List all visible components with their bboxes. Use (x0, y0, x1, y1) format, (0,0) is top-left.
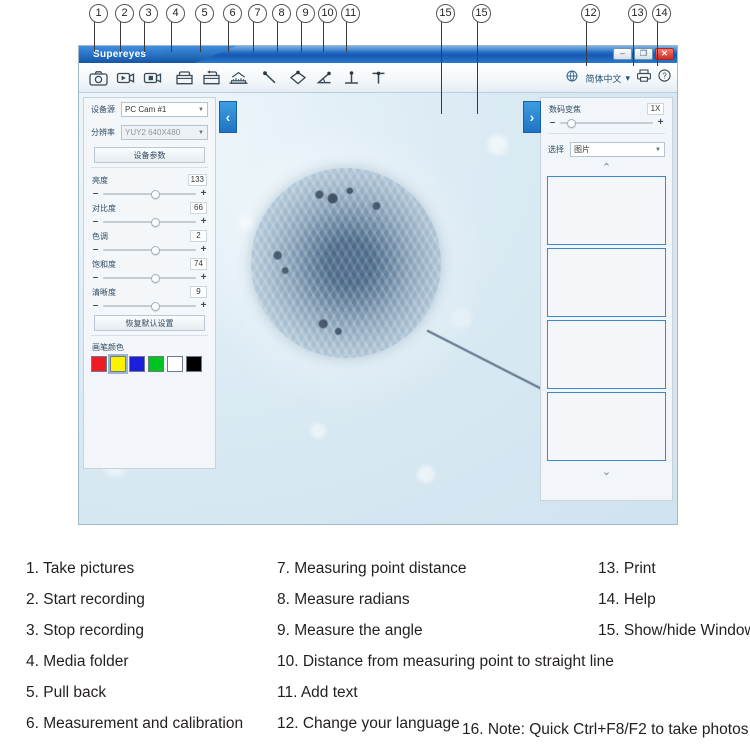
question-icon[interactable]: ? (658, 69, 671, 87)
legend-item: 5. Pull back (26, 677, 243, 708)
brush-color-swatch-5[interactable] (186, 356, 202, 372)
slider-minus-0[interactable]: – (92, 188, 99, 199)
brush-color-swatch-1[interactable] (110, 356, 126, 372)
image-adjust-sliders: 亮度133–+对比度66–+色调2–+饱和度74–+清晰度9–+ (84, 172, 215, 312)
slider-minus-4[interactable]: – (92, 300, 99, 311)
app-title: Supereyes (85, 46, 162, 63)
callout-leader-line (346, 22, 347, 52)
supereyes-app-window: Supereyes – ❐ ✕ (78, 45, 678, 525)
slider-minus-3[interactable]: – (92, 272, 99, 283)
measure-radians-icon[interactable] (284, 66, 311, 90)
callout-leader-line (228, 22, 229, 52)
thumbnail-item[interactable] (547, 176, 666, 245)
legend-item: 15. Show/hide Windows (598, 615, 750, 646)
callout-marker-5-4: 5 (195, 4, 214, 23)
slider-value-1: 66 (190, 202, 207, 214)
slider-value-4: 9 (190, 286, 207, 298)
chevron-down-icon: ▼ (198, 130, 204, 136)
slider-plus-2[interactable]: + (200, 244, 207, 255)
stop-recording-icon[interactable] (139, 66, 166, 90)
resolution-value: YUY2 640X480 (125, 128, 180, 137)
digital-zoom-track[interactable] (560, 118, 653, 128)
legend-item: 11. Add text (277, 677, 614, 708)
device-params-button[interactable]: 设备参数 (94, 147, 205, 163)
main-toolbar: 简体中文 ▾ ? (79, 63, 677, 93)
chevron-down-icon: ▼ (655, 147, 661, 153)
svg-text:?: ? (662, 72, 667, 81)
callout-leader-line (171, 22, 172, 52)
callout-leader-line (441, 22, 442, 114)
callout-leader-line (657, 22, 658, 66)
slider-plus-4[interactable]: + (200, 300, 207, 311)
callout-leader-line (323, 22, 324, 52)
chevron-up-icon[interactable]: ⌃ (541, 161, 672, 176)
callout-marker-11-10: 11 (341, 4, 360, 23)
callout-marker-10-9: 10 (318, 4, 337, 23)
brush-color-swatch-3[interactable] (148, 356, 164, 372)
brush-color-swatch-4[interactable] (167, 356, 183, 372)
slider-block-4: 清晰度9–+ (84, 284, 215, 312)
slider-plus-0[interactable]: + (200, 188, 207, 199)
window-controls: – ❐ ✕ (613, 48, 674, 60)
slider-plus-3[interactable]: + (200, 272, 207, 283)
legend-item: 2. Start recording (26, 584, 243, 615)
digital-zoom-block: 数码变焦 1X – + (541, 98, 672, 129)
slider-label-3: 饱和度 (92, 259, 116, 270)
device-source-row: 设备源 PC Cam #1 ▼ (84, 98, 215, 121)
thumbnail-item[interactable] (547, 248, 666, 317)
language-selector[interactable]: 简体中文 ▾ (585, 72, 630, 85)
legend-note: 16. Note: Quick Ctrl+F8/F2 to take photo… (462, 721, 748, 739)
callout-marker-7-6: 7 (248, 4, 267, 23)
brush-color-label: 画笔颜色 (84, 340, 215, 356)
slider-value-3: 74 (190, 258, 207, 270)
select-type-value: 图片 (574, 144, 590, 155)
slider-block-0: 亮度133–+ (84, 172, 215, 200)
point-to-line-distance-icon[interactable] (338, 66, 365, 90)
slider-knob-0[interactable] (151, 190, 160, 199)
panel-divider (91, 167, 208, 168)
callout-marker-2-1: 2 (115, 4, 134, 23)
minimize-button[interactable]: – (613, 48, 632, 60)
slider-track-2[interactable] (103, 245, 196, 255)
slider-block-2: 色调2–+ (84, 228, 215, 256)
thumbnail-item[interactable] (547, 320, 666, 389)
panel-divider-2 (91, 335, 208, 336)
language-value: 简体中文 (585, 72, 621, 85)
callout-marker-12-13: 12 (581, 4, 600, 23)
select-type-dropdown[interactable]: 图片 ▼ (570, 142, 665, 157)
right-panel-divider (548, 133, 665, 134)
slider-track-4[interactable] (103, 301, 196, 311)
slider-knob-3[interactable] (151, 274, 160, 283)
callout-leader-line (144, 22, 145, 52)
callout-leader-line (301, 22, 302, 52)
device-source-select[interactable]: PC Cam #1 ▼ (121, 102, 208, 117)
slider-track-3[interactable] (103, 273, 196, 283)
device-source-value: PC Cam #1 (125, 105, 166, 114)
callout-marker-15-11: 15 (436, 4, 455, 23)
callout-marker-13-14: 13 (628, 4, 647, 23)
legend-block: 1. Take pictures2. Start recording3. Sto… (0, 545, 750, 750)
legend-column-3: 13. Print14. Help15. Show/hide Windows (598, 553, 750, 646)
media-folder-icon[interactable] (171, 66, 198, 90)
callout-marker-15-12: 15 (472, 4, 491, 23)
maximize-button[interactable]: ❐ (634, 48, 653, 60)
resolution-label: 分辨率 (91, 127, 115, 138)
legend-item: 7. Measuring point distance (277, 553, 614, 584)
callout-marker-1-0: 1 (89, 4, 108, 23)
legend-item: 10. Distance from measuring point to str… (277, 646, 614, 677)
digital-zoom-plus[interactable]: + (657, 117, 664, 128)
slider-knob-1[interactable] (151, 218, 160, 227)
thumbnail-list (541, 176, 672, 461)
printer-icon[interactable] (637, 69, 651, 87)
chevron-down-icon[interactable]: ⌄ (541, 465, 672, 480)
pull-back-icon[interactable] (198, 66, 225, 90)
digital-zoom-knob[interactable] (567, 119, 576, 128)
callout-leader-line (633, 22, 634, 66)
legend-item: 9. Measure the angle (277, 615, 614, 646)
slider-label-2: 色调 (92, 231, 108, 242)
slider-minus-2[interactable]: – (92, 244, 99, 255)
select-type-label: 选择 (548, 144, 564, 155)
callout-leader-line (277, 22, 278, 52)
digital-zoom-minus[interactable]: – (549, 117, 556, 128)
digital-zoom-label: 数码变焦 (549, 104, 581, 115)
slider-label-1: 对比度 (92, 203, 116, 214)
callout-leader-line (253, 22, 254, 52)
measure-point-distance-icon[interactable] (257, 66, 284, 90)
callout-marker-4-3: 4 (166, 4, 185, 23)
device-source-label: 设备源 (91, 104, 115, 115)
reset-defaults-button[interactable]: 恢复默认设置 (94, 315, 205, 331)
toolbar-right-group: 简体中文 ▾ ? (566, 63, 671, 93)
measure-angle-icon[interactable] (311, 66, 338, 90)
slider-plus-1[interactable]: + (200, 216, 207, 227)
slider-label-4: 清晰度 (92, 287, 116, 298)
slider-knob-4[interactable] (151, 302, 160, 311)
callout-marker-14-15: 14 (652, 4, 671, 23)
slider-block-1: 对比度66–+ (84, 200, 215, 228)
callout-leader-line (477, 22, 478, 114)
callout-leader-line (120, 22, 121, 52)
hide-left-panel-toggle[interactable]: ‹ (219, 101, 237, 133)
callout-marker-6-5: 6 (223, 4, 242, 23)
digital-zoom-value: 1X (647, 103, 664, 115)
legend-item: 13. Print (598, 553, 750, 584)
legend-item: 8. Measure radians (277, 584, 614, 615)
callout-marker-8-7: 8 (272, 4, 291, 23)
legend-item: 1. Take pictures (26, 553, 243, 584)
legend-item: 6. Measurement and calibration (26, 708, 243, 739)
hide-right-panel-toggle[interactable]: › (523, 101, 541, 133)
add-text-icon[interactable] (365, 66, 392, 90)
legend-item: 3. Stop recording (26, 615, 243, 646)
specimen-sphere (251, 168, 441, 358)
select-type-row: 选择 图片 ▼ (541, 138, 672, 161)
slider-value-2: 2 (190, 230, 207, 242)
start-recording-icon[interactable] (112, 66, 139, 90)
brush-color-swatch-0[interactable] (91, 356, 107, 372)
brush-color-swatches (84, 356, 215, 372)
slider-track-1[interactable] (103, 217, 196, 227)
slider-block-3: 饱和度74–+ (84, 256, 215, 284)
resolution-row: 分辨率 YUY2 640X480 ▼ (84, 121, 215, 144)
legend-item: 4. Media folder (26, 646, 243, 677)
callout-leader-line (586, 22, 587, 66)
chevron-down-icon: ▾ (625, 73, 630, 84)
settings-panel: 设备源 PC Cam #1 ▼ 分辨率 YUY2 640X480 ▼ 设备参数 … (83, 97, 216, 469)
screenshot-root: 12345678910111515121314 Supereyes – ❐ ✕ (0, 0, 750, 750)
viewer-area: ‹ › 设备源 PC Cam #1 ▼ 分辨率 YUY2 640X480 ▼ (79, 93, 677, 525)
callout-leader-line (94, 22, 95, 52)
thumbnail-item[interactable] (547, 392, 666, 461)
slider-minus-1[interactable]: – (92, 216, 99, 227)
brush-color-swatch-2[interactable] (129, 356, 145, 372)
callout-marker-9-8: 9 (296, 4, 315, 23)
specimen-spots (251, 168, 441, 358)
measurement-calibration-icon[interactable] (225, 66, 252, 90)
take-picture-icon[interactable] (85, 66, 112, 90)
globe-icon[interactable] (566, 69, 578, 87)
capture-panel: 数码变焦 1X – + 选择 图片 (540, 97, 673, 501)
slider-label-0: 亮度 (92, 175, 108, 186)
slider-track-0[interactable] (103, 189, 196, 199)
callout-leader-line (200, 22, 201, 52)
legend-column-1: 1. Take pictures2. Start recording3. Sto… (26, 553, 243, 739)
legend-column-2: 7. Measuring point distance8. Measure ra… (277, 553, 614, 739)
slider-knob-2[interactable] (151, 246, 160, 255)
chevron-down-icon: ▼ (198, 107, 204, 113)
callout-marker-3-2: 3 (139, 4, 158, 23)
resolution-select[interactable]: YUY2 640X480 ▼ (121, 125, 208, 140)
legend-item: 14. Help (598, 584, 750, 615)
slider-value-0: 133 (188, 174, 207, 186)
